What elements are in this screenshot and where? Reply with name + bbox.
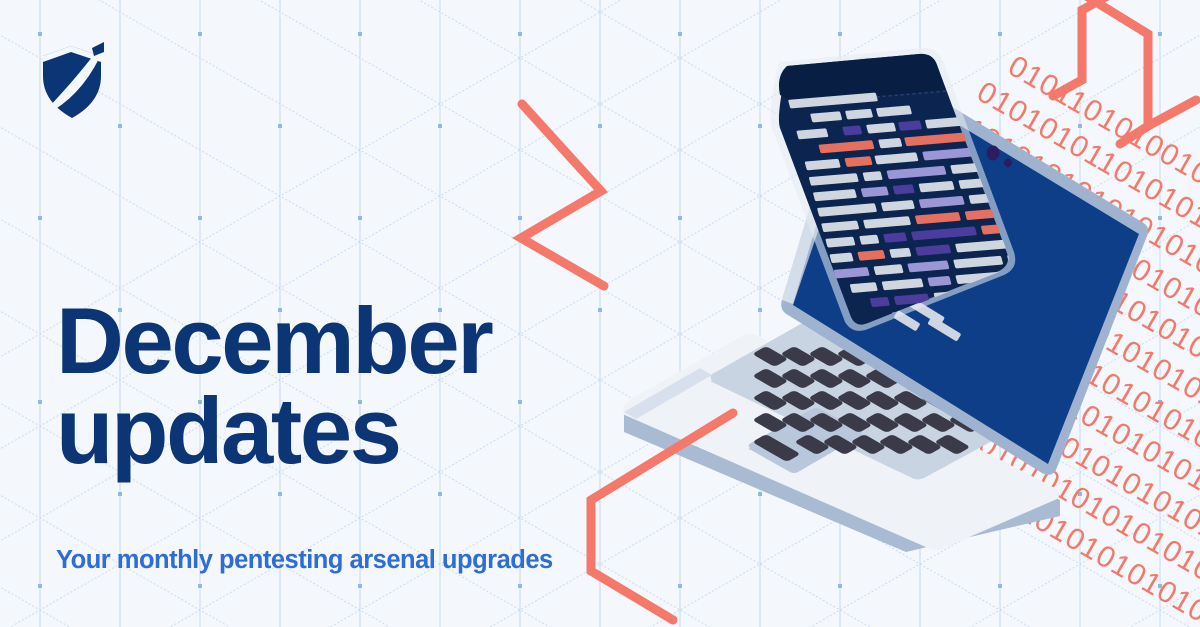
marketing-banner: 01011010100101010 0101010110101010101 10… bbox=[0, 0, 1200, 627]
logo-container bbox=[0, 0, 1200, 627]
shield-swoosh-logo-icon[interactable] bbox=[40, 42, 104, 120]
